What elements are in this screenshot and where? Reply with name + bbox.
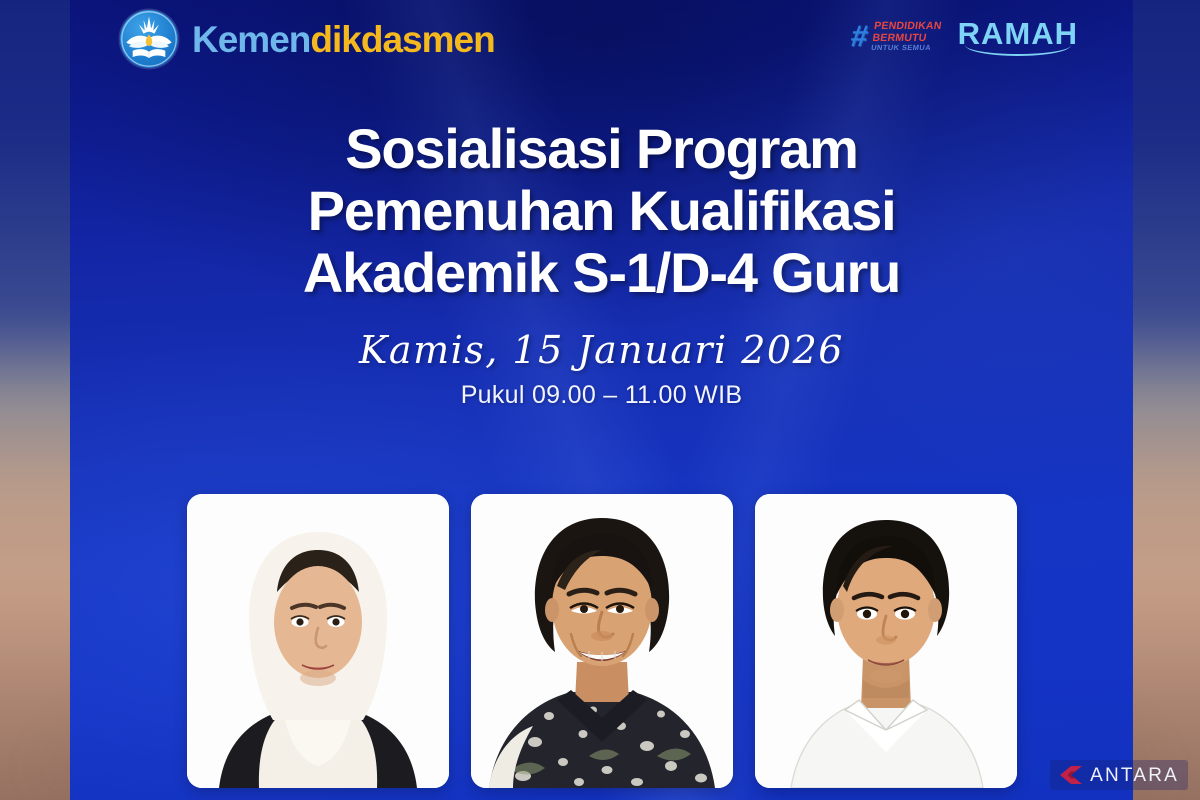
campaign-tag-line1: PENDIDIKAN — [873, 21, 942, 32]
brand-word-dikdasmen: dikdasmen — [310, 19, 494, 60]
screenshot-stage: Kemendikdasmen # PENDIDIKAN BERMUTU UNTU… — [0, 0, 1200, 800]
antara-watermark: ANTARA — [1050, 760, 1188, 790]
campaign-tag-lines: PENDIDIKAN BERMUTU UNTUK SEMUA — [870, 21, 942, 53]
campaign-tag-line3: UNTUK SEMUA — [870, 45, 939, 53]
page-title-line-3: Akademik S-1/D-4 Guru — [106, 242, 1097, 304]
ministry-brand-wordmark: Kemendikdasmen — [192, 21, 495, 58]
antara-arrow-icon — [1059, 765, 1083, 785]
smile-swoosh-icon — [965, 45, 1071, 56]
speaker-photo-card-2[interactable] — [471, 494, 733, 788]
speaker-photo-card-1[interactable] — [187, 494, 449, 788]
campaign-tag-line2: BERMUTU — [871, 33, 940, 44]
brand-word-kemen: Kemen — [192, 19, 310, 60]
header-right-logos: # PENDIDIKAN BERMUTU UNTUK SEMUA RAMAH — [851, 18, 1078, 56]
speaker-photo-card-3[interactable] — [755, 494, 1017, 788]
speaker-2-portrait — [471, 494, 733, 788]
poster-header: Kemendikdasmen # PENDIDIKAN BERMUTU UNTU… — [70, 8, 1133, 74]
ramah-logo: RAMAH — [958, 18, 1078, 56]
page-title-line-2: Pemenuhan Kualifikasi — [106, 180, 1097, 242]
antara-watermark-label: ANTARA — [1090, 766, 1179, 785]
speaker-photo-row — [70, 494, 1133, 788]
event-date: Kamis, 15 Januari 2026 — [106, 328, 1097, 372]
event-time: Pukul 09.00 – 11.00 WIB — [106, 381, 1097, 410]
poster-title-block: Sosialisasi Program Pemenuhan Kualifikas… — [70, 118, 1133, 410]
event-poster: Kemendikdasmen # PENDIDIKAN BERMUTU UNTU… — [70, 0, 1133, 800]
speaker-3-portrait — [755, 494, 1017, 788]
ministry-brand-lockup: Kemendikdasmen — [120, 10, 495, 68]
hashtag-icon: # — [848, 22, 869, 52]
tut-wuri-handayani-emblem-icon — [120, 10, 178, 68]
pendidikan-bermutu-campaign-logo: # PENDIDIKAN BERMUTU UNTUK SEMUA — [848, 21, 941, 53]
page-title-line-1: Sosialisasi Program — [106, 118, 1097, 180]
speaker-1-portrait — [187, 494, 449, 788]
